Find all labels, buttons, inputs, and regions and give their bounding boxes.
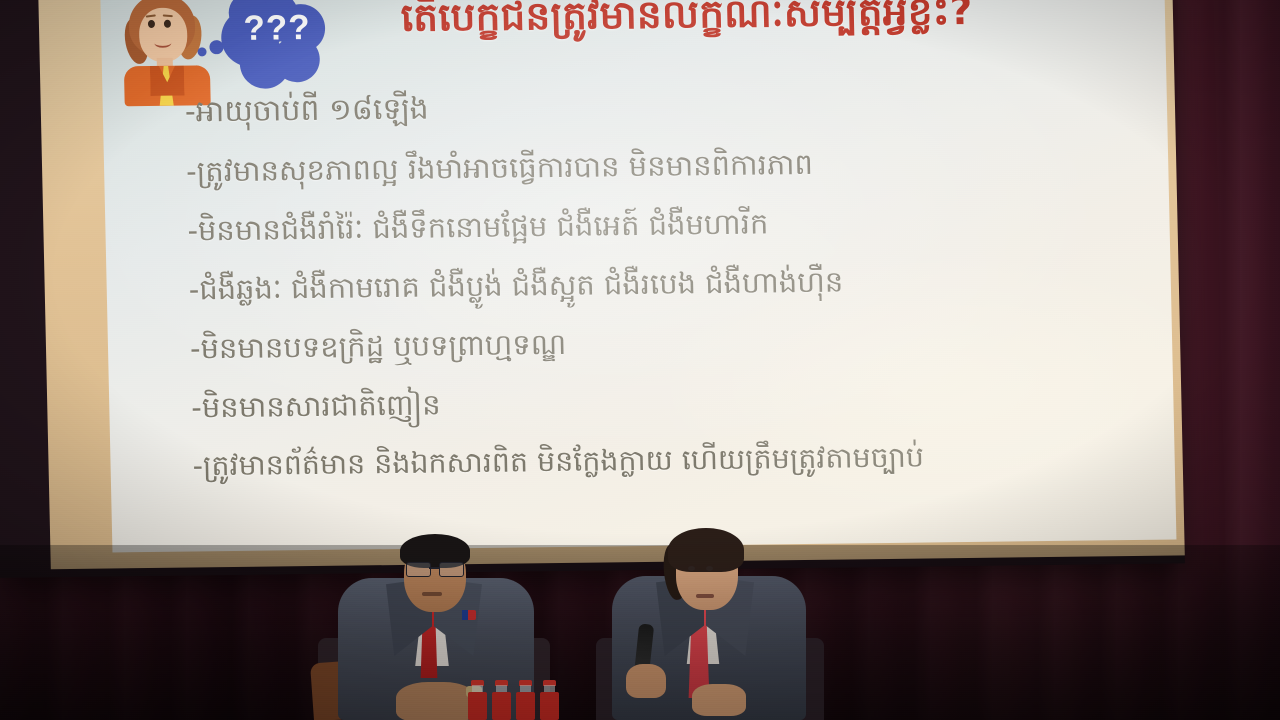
photo-scene: ??? តើបេក្ខជនត្រូវមានលក្ខណៈសម្បត្តិអ្វីខ… [0,0,1280,720]
vignette-overlay [0,0,1280,720]
